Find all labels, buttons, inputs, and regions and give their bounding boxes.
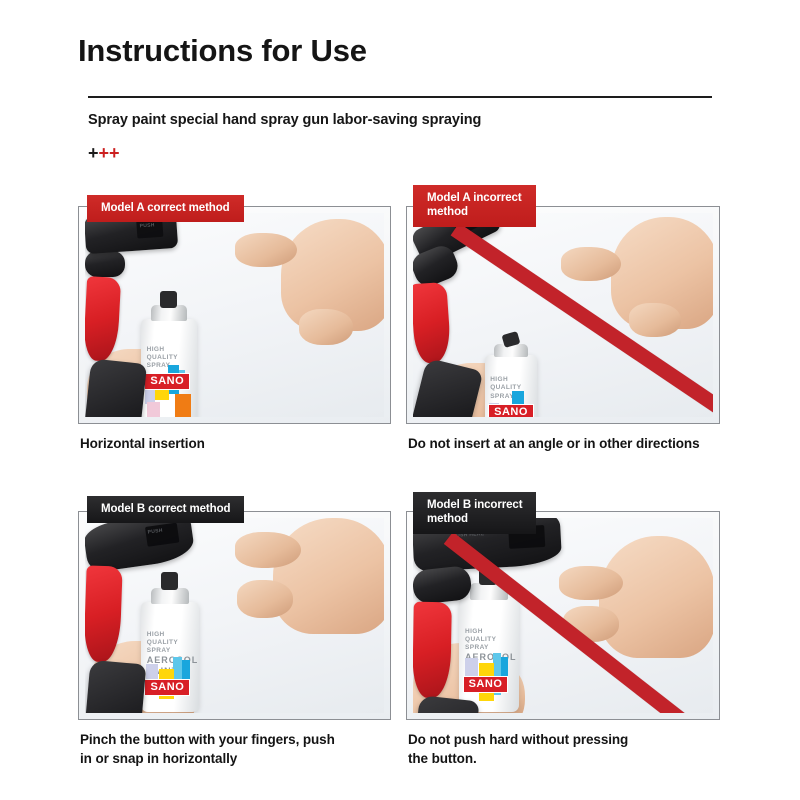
panel-model-a-incorrect: HIGH QUALITY SPRAY SANO PUSH (406, 206, 720, 424)
finger (559, 566, 623, 600)
plus-mark-3: + (109, 143, 120, 163)
can-nozzle (160, 291, 177, 308)
panel-model-b-incorrect: HIGH QUALITY SPRAY AEROSOL PAINT SANO PU… (406, 511, 720, 720)
spray-can: HIGH QUALITY SPRAY AEROSOL PAINT SANO (459, 598, 519, 712)
caption-model-b-incorrect: Do not push hard without pressing the bu… (408, 730, 728, 768)
gun-grip (85, 660, 146, 713)
gun-trigger (413, 282, 452, 364)
can-nozzle (161, 572, 178, 590)
callout-model-a-correct: Model A correct method (87, 195, 244, 222)
caption-model-b-correct: Pinch the button with your fingers, push… (80, 730, 400, 768)
gun-trigger (85, 276, 121, 362)
panel-model-a-correct: HIGH QUALITY SPRAY SANO PUSH (78, 206, 391, 424)
gun-grip (85, 358, 147, 417)
callout-model-a-incorrect: Model A incorrect method (413, 185, 536, 227)
finger (235, 233, 297, 267)
photo-model-b-incorrect: HIGH QUALITY SPRAY AEROSOL PAINT SANO PU… (413, 518, 713, 713)
finger (561, 247, 621, 281)
panel-model-b-correct: HIGH QUALITY SPRAY AEROSOL PAINT SANO PU… (78, 511, 391, 720)
callout-model-b-incorrect: Model B incorrect method (413, 492, 536, 534)
hand-gripping-gun (599, 536, 713, 658)
caption-model-a-incorrect: Do not insert at an angle or in other di… (408, 434, 728, 453)
photo-model-b-correct: HIGH QUALITY SPRAY AEROSOL PAINT SANO PU… (85, 518, 384, 713)
title-divider (88, 96, 712, 98)
hand-gripping-gun (273, 518, 384, 634)
brand-badge: SANO (144, 679, 190, 696)
can-neck (151, 305, 187, 321)
page-subtitle: Spray paint special hand spray gun labor… (88, 112, 481, 128)
spray-can: HIGH QUALITY SPRAY SANO (485, 355, 537, 417)
gun-head-collar (85, 251, 125, 277)
spray-can: HIGH QUALITY SPRAY AEROSOL PAINT SANO (141, 602, 199, 712)
spray-can: HIGH QUALITY SPRAY SANO (141, 319, 197, 417)
can-neck (151, 588, 188, 605)
photo-model-a-incorrect: HIGH QUALITY SPRAY SANO PUSH (413, 213, 713, 417)
brand-badge: SANO (488, 404, 534, 417)
caption-model-a-correct: Horizontal insertion (80, 434, 380, 453)
plus-mark-2: + (99, 143, 110, 163)
plus-marks: +++ (88, 144, 120, 162)
finger (299, 309, 353, 345)
plus-mark-1: + (88, 143, 99, 163)
finger (235, 532, 301, 568)
callout-model-b-correct: Model B correct method (87, 496, 244, 523)
finger (629, 303, 681, 337)
instruction-sheet: Instructions for Use Spray paint special… (0, 0, 800, 800)
brand-badge: SANO (144, 373, 190, 390)
photo-model-a-correct: HIGH QUALITY SPRAY SANO PUSH (85, 213, 384, 417)
page-title: Instructions for Use (78, 34, 367, 68)
finger (237, 580, 293, 618)
brand-badge: SANO (463, 676, 509, 693)
